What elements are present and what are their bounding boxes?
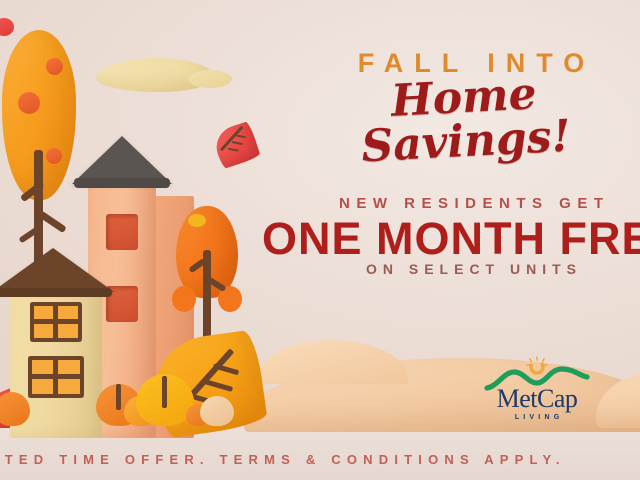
leaf-vein bbox=[228, 148, 239, 152]
leaf-vein bbox=[236, 135, 246, 139]
offer-subtext: ON SELECT UNITS bbox=[316, 262, 626, 276]
logo-wordmark: MetCap bbox=[484, 386, 590, 412]
tree-blob-lobe bbox=[172, 286, 196, 312]
house-tall-window-upper bbox=[106, 214, 138, 250]
offer-eyebrow: NEW RESIDENTS GET bbox=[316, 196, 626, 211]
offer-headline: ONE MONTH FREE bbox=[262, 216, 640, 261]
logo-tagline: LIVING bbox=[484, 414, 590, 421]
house-small-roof-eave bbox=[0, 288, 112, 297]
window-mullion-horizontal bbox=[28, 374, 84, 379]
fruit-dot bbox=[18, 92, 40, 114]
house-tall-roof bbox=[72, 136, 172, 184]
fruit-dot bbox=[46, 148, 62, 164]
fruit-dot bbox=[46, 58, 63, 75]
window-mullion-horizontal bbox=[30, 319, 82, 324]
leaf-vein bbox=[232, 141, 243, 145]
headline-script: Home Savings! bbox=[298, 67, 632, 172]
leaf-red-icon bbox=[211, 121, 261, 170]
leaf-vein bbox=[203, 379, 233, 392]
leaf-vein bbox=[213, 363, 239, 375]
bush-stem bbox=[116, 384, 121, 410]
tree-blob-highlight bbox=[188, 214, 206, 227]
bush-stem bbox=[162, 376, 167, 408]
disclaimer-text: LIMITED TIME OFFER. TERMS & CONDITIONS A… bbox=[0, 452, 514, 467]
promotional-banner: FALL INTO Home Savings! NEW RESIDENTS GE… bbox=[0, 0, 640, 480]
bush-shape bbox=[200, 396, 234, 426]
ground-mound-bump bbox=[258, 340, 408, 384]
house-tall-roof-eave bbox=[74, 178, 170, 188]
metcap-logo[interactable]: MetCap LIVING bbox=[484, 356, 590, 436]
house-small-roof bbox=[0, 248, 114, 292]
berry-icon bbox=[0, 18, 14, 36]
cloud-shape bbox=[96, 58, 214, 92]
